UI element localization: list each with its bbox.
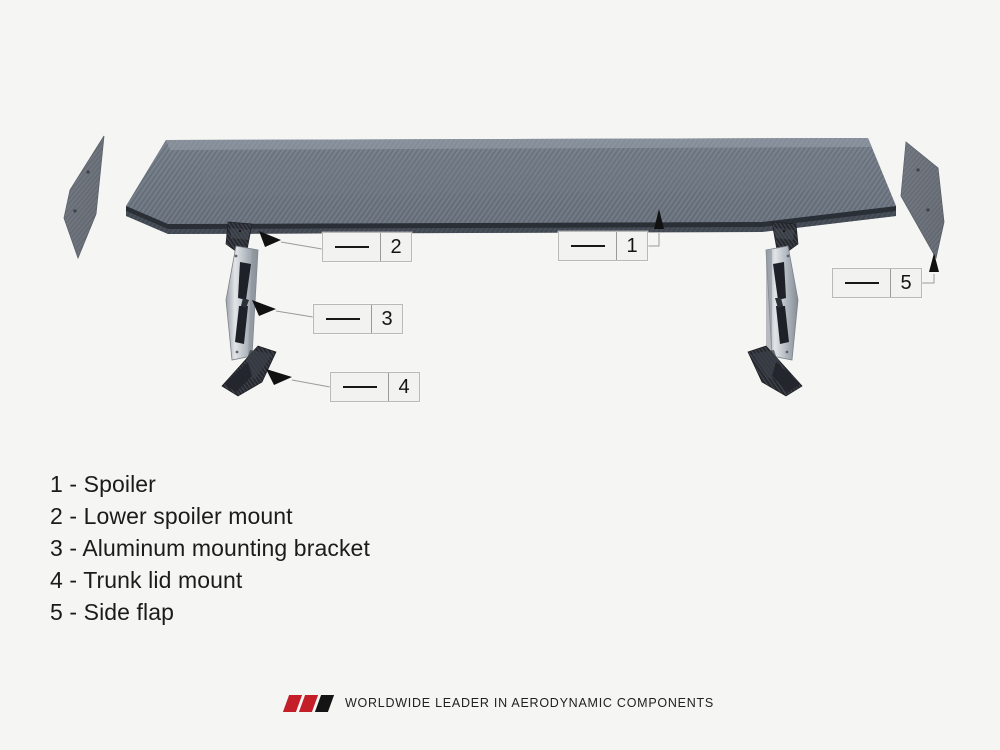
parts-legend: 1 - Spoiler 2 - Lower spoiler mount 3 - … <box>50 468 570 628</box>
callout-box-5[interactable]: 5 <box>832 268 922 298</box>
legend-item-1: 1 - Spoiler <box>50 468 570 500</box>
trunk-lid-mount-left <box>222 346 276 396</box>
three-slash-logo-icon <box>286 695 331 712</box>
footer-tagline: WORLDWIDE LEADER IN AERODYNAMIC COMPONEN… <box>345 696 714 710</box>
aluminum-mounting-bracket-right <box>766 246 798 360</box>
legend-item-3: 3 - Aluminum mounting bracket <box>50 532 570 564</box>
callout-dash-2 <box>323 233 381 261</box>
legend-item-2: 2 - Lower spoiler mount <box>50 500 570 532</box>
spoiler-wing <box>126 138 896 234</box>
product-illustration <box>0 0 1000 460</box>
callout-box-1[interactable]: 1 <box>558 231 648 261</box>
footer-branding: WORLDWIDE LEADER IN AERODYNAMIC COMPONEN… <box>0 688 1000 718</box>
callout-number-1: 1 <box>617 232 647 260</box>
side-flap-right <box>901 142 944 258</box>
callout-number-4: 4 <box>389 373 419 401</box>
callout-dash-5 <box>833 269 891 297</box>
callout-number-2: 2 <box>381 233 411 261</box>
diagram-canvas: 1 2 3 4 5 1 - Spoiler 2 - Lower spoiler … <box>0 0 1000 750</box>
callout-box-2[interactable]: 2 <box>322 232 412 262</box>
callout-dash-4 <box>331 373 389 401</box>
side-flap-left <box>64 136 104 258</box>
callout-dash-3 <box>314 305 372 333</box>
aluminum-mounting-bracket-left <box>226 246 258 360</box>
trunk-lid-mount-right <box>748 346 802 396</box>
callout-number-5: 5 <box>891 269 921 297</box>
callout-box-3[interactable]: 3 <box>313 304 403 334</box>
callout-box-4[interactable]: 4 <box>330 372 420 402</box>
legend-item-4: 4 - Trunk lid mount <box>50 564 570 596</box>
legend-item-5: 5 - Side flap <box>50 596 570 628</box>
callout-dash-1 <box>559 232 617 260</box>
callout-number-3: 3 <box>372 305 402 333</box>
